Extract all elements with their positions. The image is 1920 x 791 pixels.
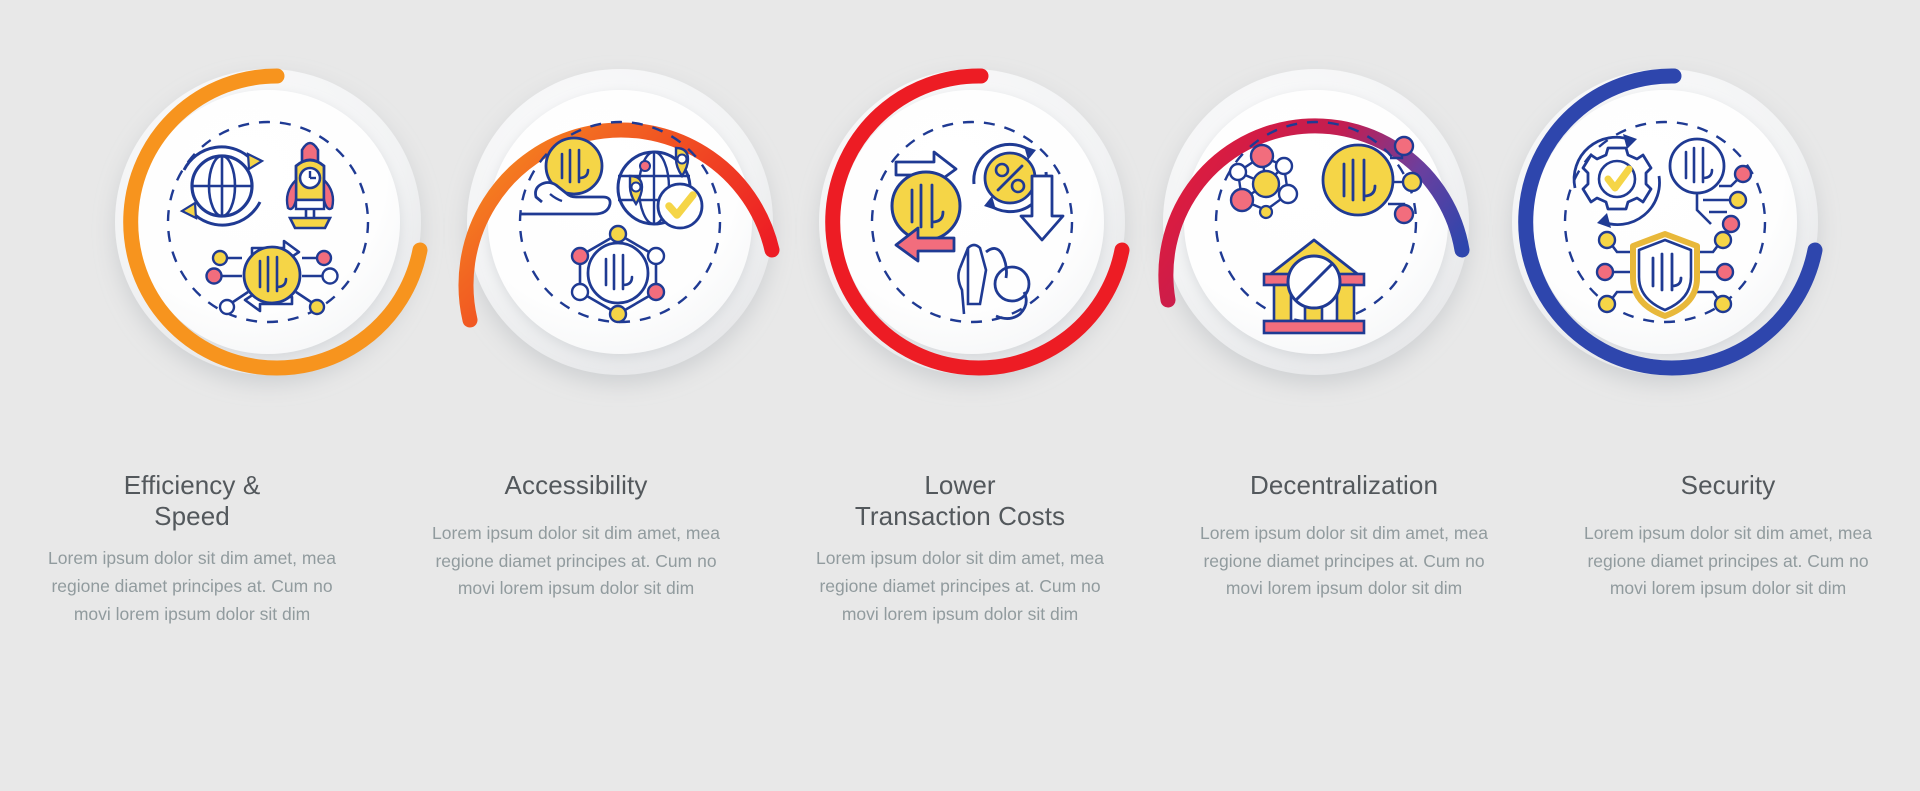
ring-arc-1[interactable]: [131, 76, 420, 368]
ring-arc-4[interactable]: [1166, 126, 1462, 300]
chain-rings-diagram: [0, 0, 1920, 791]
icon-efficiency-speed: [168, 122, 368, 322]
globe-icon: [182, 147, 262, 225]
step-title-4: Decentralization: [1250, 470, 1438, 506]
icon-lower-transaction-costs: [872, 122, 1072, 322]
icon-decentralization: [1216, 122, 1421, 333]
step-circle-1-puck: [115, 69, 421, 375]
coin-circuit-icon: [1670, 139, 1751, 232]
coin-transfer-arrows-icon: [892, 152, 960, 261]
down-arrow-icon: [1021, 176, 1063, 240]
ring-arc-2[interactable]: [466, 130, 772, 320]
step-text-1: Efficiency & Speed Lorem ipsum dolor sit…: [0, 470, 384, 628]
step-title-3: Lower Transaction Costs: [855, 470, 1065, 531]
step-title-4-line-1: Decentralization: [1250, 470, 1438, 501]
step-text-5: Security Lorem ipsum dolor sit dim amet,…: [1536, 470, 1920, 628]
infographic-root: Efficiency & Speed Lorem ipsum dolor sit…: [0, 0, 1920, 791]
step-title-5: Security: [1681, 470, 1776, 506]
shield-coin-icon: [1597, 232, 1733, 316]
dashed-orbit-ring: [872, 122, 1072, 322]
ring-arc-5[interactable]: [1526, 76, 1815, 368]
globe-location-pins-icon: [618, 148, 702, 228]
step-title-5-line-1: Security: [1681, 470, 1776, 501]
step-description-1: Lorem ipsum dolor sit dim amet, mea regi…: [47, 545, 337, 628]
step-description-3: Lorem ipsum dolor sit dim amet, mea regi…: [815, 545, 1105, 628]
ring-arc-3[interactable]: [833, 76, 1122, 368]
dashed-orbit-ring: [168, 122, 368, 322]
step-title-1-line-2: Speed: [124, 501, 261, 532]
step-description-2: Lorem ipsum dolor sit dim amet, mea regi…: [431, 520, 721, 603]
step-title-2: Accessibility: [505, 470, 648, 506]
icon-accessibility: [520, 122, 720, 322]
bank-building-icon: [1264, 240, 1364, 333]
coin-network-exchange-icon: [207, 241, 338, 314]
hand-pinch-icon: [958, 245, 1029, 319]
step-text-4: Decentralization Lorem ipsum dolor sit d…: [1152, 470, 1536, 628]
step-circle-2-puck: [467, 69, 773, 375]
dashed-orbit-ring: [1216, 122, 1416, 322]
step-circle-4-puck: [1163, 69, 1469, 375]
hand-holding-coin-icon: [520, 138, 610, 214]
step-title-3-line-1: Lower: [855, 470, 1065, 501]
percent-refresh-icon: [974, 144, 1046, 211]
icon-security: [1565, 122, 1765, 322]
step-title-1-line-1: Efficiency &: [124, 470, 261, 501]
dashed-orbit-ring: [1565, 122, 1765, 322]
gear-checkmark-icon: [1574, 134, 1659, 228]
step-title-1: Efficiency & Speed: [124, 470, 261, 531]
step-title-2-line-1: Accessibility: [505, 470, 648, 501]
hexagon-network-coin-icon: [572, 226, 664, 322]
dashed-orbit-ring: [520, 122, 720, 322]
step-title-3-line-2: Transaction Costs: [855, 501, 1065, 532]
step-description-5: Lorem ipsum dolor sit dim amet, mea regi…: [1583, 520, 1873, 603]
step-text-row: Efficiency & Speed Lorem ipsum dolor sit…: [0, 470, 1920, 628]
step-description-4: Lorem ipsum dolor sit dim amet, mea regi…: [1199, 520, 1489, 603]
step-text-3: Lower Transaction Costs Lorem ipsum dolo…: [768, 470, 1152, 628]
molecule-cluster-icon: [1230, 145, 1297, 218]
coin-nodes-icon: [1323, 137, 1421, 223]
rocket-clock-icon: [287, 143, 333, 228]
step-text-2: Accessibility Lorem ipsum dolor sit dim …: [384, 470, 768, 628]
step-circle-3-puck: [819, 69, 1125, 375]
step-circle-5-puck: [1512, 69, 1818, 375]
